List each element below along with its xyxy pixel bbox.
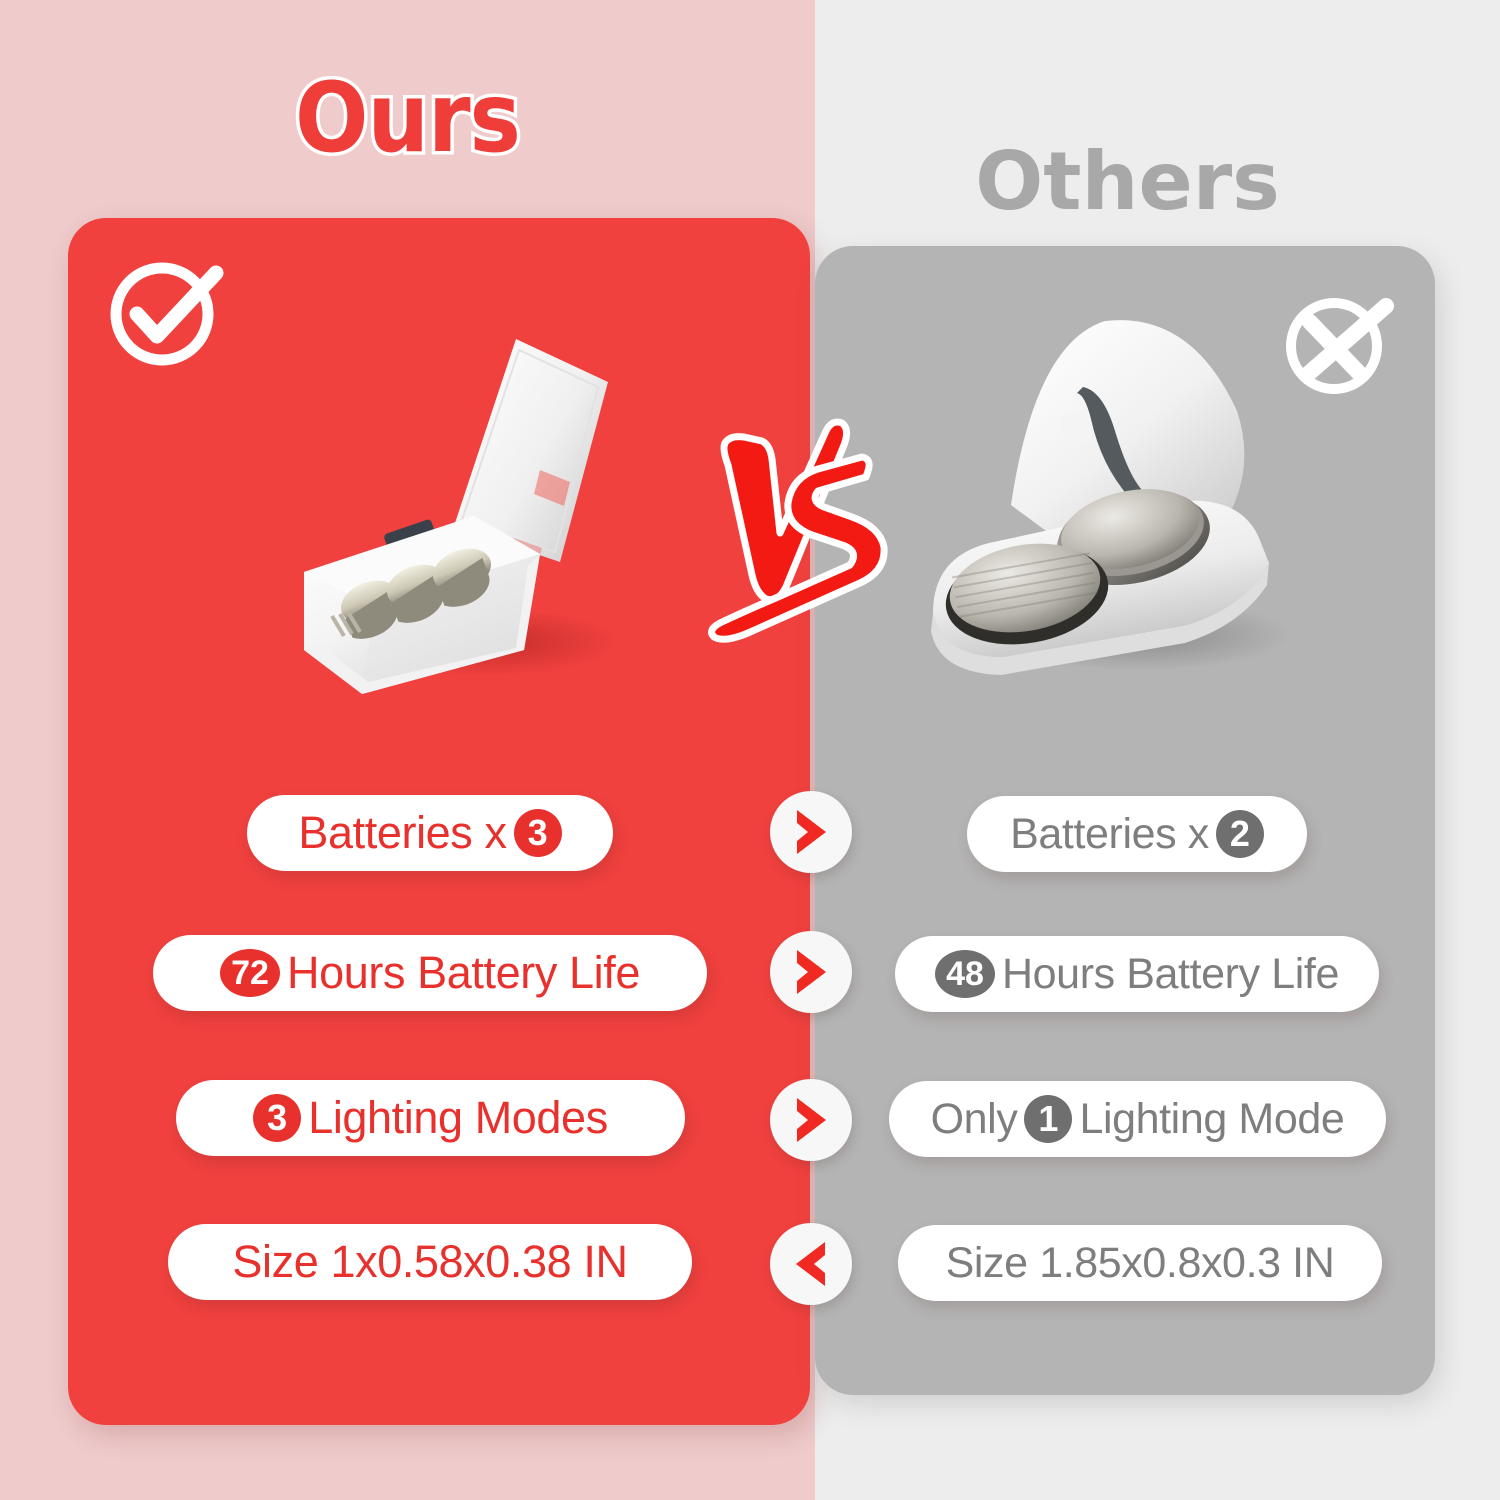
pill-badge-count: 3 <box>514 809 562 857</box>
pill-text-suffix: Lighting Modes <box>308 1092 608 1144</box>
pill-badge-count: 2 <box>1216 810 1264 858</box>
operator-badge-row-4 <box>770 1223 852 1305</box>
pill-badge-count: 48 <box>935 950 995 998</box>
feature-pill-others-battery-life: 48 Hours Battery Life <box>895 936 1379 1012</box>
pill-text-prefix: Batteries x <box>1010 810 1209 859</box>
pill-text-suffix: Hours Battery Life <box>1002 950 1339 999</box>
pill-text-prefix: Size 1.85x0.8x0.3 IN <box>946 1239 1335 1288</box>
chevron-right-icon <box>770 1079 852 1161</box>
pill-text-suffix: Hours Battery Life <box>287 947 640 999</box>
feature-pill-ours-size: Size 1x0.58x0.38 IN <box>168 1224 692 1300</box>
pill-badge-count: 3 <box>253 1094 301 1142</box>
battery-holder-2-cells-photo <box>915 295 1305 695</box>
feature-pill-others-lighting-modes: Only 1 Lighting Mode <box>889 1081 1386 1157</box>
chevron-right-icon <box>770 931 852 1013</box>
feature-pill-others-size: Size 1.85x0.8x0.3 IN <box>898 1225 1382 1301</box>
feature-pill-others-batteries: Batteries x 2 <box>967 796 1307 872</box>
pill-text-suffix: Lighting Mode <box>1079 1095 1344 1144</box>
vs-badge-icon <box>700 415 905 645</box>
chevron-right-icon <box>770 791 852 873</box>
pill-text-prefix: Batteries x <box>298 807 506 859</box>
pill-text-prefix: Only <box>931 1095 1018 1144</box>
feature-pill-ours-lighting-modes: 3 Lighting Modes <box>176 1080 685 1156</box>
pill-badge-count: 1 <box>1024 1095 1072 1143</box>
operator-badge-row-2 <box>770 931 852 1013</box>
page-title-ours: Ours <box>0 68 815 169</box>
feature-pill-ours-battery-life: 72 Hours Battery Life <box>153 935 707 1011</box>
check-circle-icon <box>104 248 228 372</box>
battery-case-3-cells-photo <box>278 330 628 710</box>
feature-pill-ours-batteries: Batteries x 3 <box>247 795 613 871</box>
pill-text-prefix: Size 1x0.58x0.38 IN <box>232 1236 627 1288</box>
operator-badge-row-3 <box>770 1079 852 1161</box>
pill-badge-count: 72 <box>220 949 280 997</box>
page-title-others: Others <box>820 140 1435 224</box>
chevron-left-icon <box>770 1223 852 1305</box>
operator-badge-row-1 <box>770 791 852 873</box>
